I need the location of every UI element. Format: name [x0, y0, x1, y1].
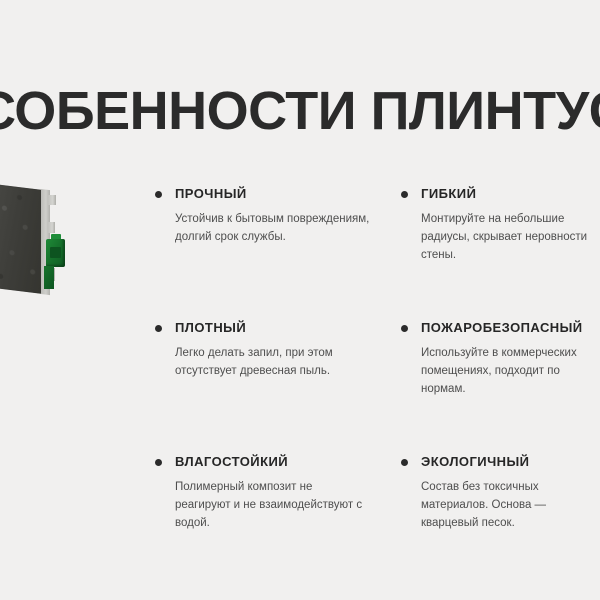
- feature-title: ПОЖАРОБЕЗОПАСНЫЙ: [421, 320, 583, 336]
- feature-title: ПРОЧНЫЙ: [175, 186, 247, 202]
- feature-item: ПОЖАРОБЕЗОПАСНЫЙ Используйте в коммерчес…: [401, 320, 596, 422]
- bullet-icon: [401, 191, 408, 198]
- bullet-icon: [155, 325, 162, 332]
- feature-item: ЭКОЛОГИЧНЫЙ Состав без токсичных материа…: [401, 454, 596, 532]
- skirting-board-render: [0, 184, 80, 300]
- board-front-face: [0, 184, 43, 294]
- feature-item: ВЛАГОСТОЙКИЙ Полимерный композит не реаг…: [155, 454, 370, 532]
- clip-inner-slot: [50, 247, 61, 258]
- clip-tail: [44, 266, 54, 289]
- feature-description: Используйте в коммерческих помещениях, п…: [421, 344, 596, 398]
- feature-heading: ПОЖАРОБЕЗОПАСНЫЙ: [401, 320, 596, 336]
- feature-heading: ПРОЧНЫЙ: [155, 186, 370, 202]
- mounting-clip: [46, 239, 65, 267]
- feature-title: ПЛОТНЫЙ: [175, 320, 246, 336]
- feature-heading: ЭКОЛОГИЧНЫЙ: [401, 454, 596, 470]
- board-notch-top: [48, 195, 56, 205]
- features-column-right: ГИБКИЙ Монтируйте на небольшие радиусы, …: [401, 186, 596, 532]
- feature-description: Полимерный композит не реагируют и не вз…: [175, 478, 370, 532]
- feature-title: ВЛАГОСТОЙКИЙ: [175, 454, 288, 470]
- feature-title: ЭКОЛОГИЧНЫЙ: [421, 454, 529, 470]
- feature-item: ПЛОТНЫЙ Легко делать запил, при этом отс…: [155, 320, 370, 422]
- bullet-icon: [401, 459, 408, 466]
- feature-heading: ВЛАГОСТОЙКИЙ: [155, 454, 370, 470]
- bullet-icon: [155, 459, 162, 466]
- feature-description: Монтируйте на небольшие радиусы, скрывае…: [421, 210, 596, 264]
- feature-title: ГИБКИЙ: [421, 186, 476, 202]
- feature-item: ГИБКИЙ Монтируйте на небольшие радиусы, …: [401, 186, 596, 288]
- page-title: ОСОБЕННОСТИ ПЛИНТУСА: [0, 82, 600, 142]
- feature-description: Легко делать запил, при этом отсутствует…: [175, 344, 370, 380]
- bullet-icon: [401, 325, 408, 332]
- slide-root: ОСОБЕННОСТИ ПЛИНТУСА ПРОЧНЫЙ Устойчив к …: [0, 0, 600, 600]
- board-notch-middle: [48, 222, 55, 233]
- features-column-left: ПРОЧНЫЙ Устойчив к бытовым повреждениям,…: [155, 186, 370, 532]
- page-title-container: ОСОБЕННОСТИ ПЛИНТУСА: [0, 82, 600, 144]
- feature-description: Состав без токсичных материалов. Основа …: [421, 478, 596, 532]
- bullet-icon: [155, 191, 162, 198]
- feature-description: Устойчив к бытовым повреждениям, долгий …: [175, 210, 370, 246]
- feature-item: ПРОЧНЫЙ Устойчив к бытовым повреждениям,…: [155, 186, 370, 288]
- feature-heading: ГИБКИЙ: [401, 186, 596, 202]
- feature-heading: ПЛОТНЫЙ: [155, 320, 370, 336]
